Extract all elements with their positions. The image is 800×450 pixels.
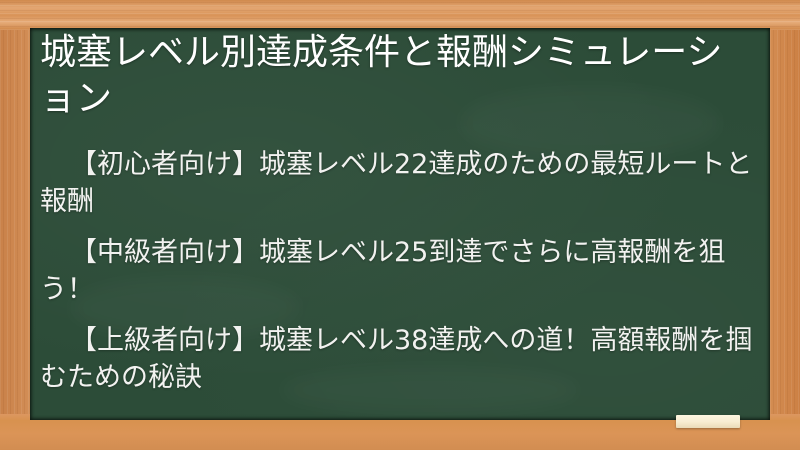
list-item[interactable]: 【上級者向け】城塞レベル38達成への道！高額報酬を掴むための秘訣 xyxy=(40,322,758,396)
topic-list: 【初心者向け】城塞レベル22達成のための最短ルートと報酬 【中級者向け】城塞レベ… xyxy=(40,146,758,396)
chalk-stick-icon xyxy=(676,415,740,428)
board-content: 城塞レベル別達成条件と報酬シミュレーション 【初心者向け】城塞レベル22達成のた… xyxy=(30,28,770,420)
list-item[interactable]: 【中級者向け】城塞レベル25到達でさらに高報酬を狙う！ xyxy=(40,234,758,308)
frame-rail-top xyxy=(0,0,800,30)
blackboard-frame: 城塞レベル別達成条件と報酬シミュレーション 【初心者向け】城塞レベル22達成のた… xyxy=(0,0,800,450)
chalkboard-surface: 城塞レベル別達成条件と報酬シミュレーション 【初心者向け】城塞レベル22達成のた… xyxy=(30,28,770,420)
page-title: 城塞レベル別達成条件と報酬シミュレーション xyxy=(40,30,728,122)
list-item[interactable]: 【初心者向け】城塞レベル22達成のための最短ルートと報酬 xyxy=(40,146,758,220)
